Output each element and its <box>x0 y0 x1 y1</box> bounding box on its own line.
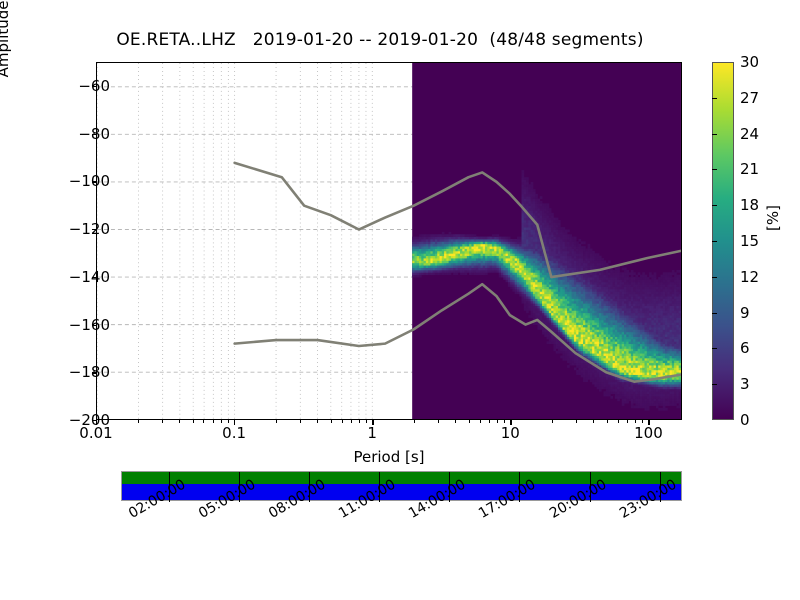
x-minor-tick-mark <box>489 419 490 423</box>
x-tick-label: 0.01 <box>79 424 112 442</box>
colorbar-tick-label: 0 <box>740 411 750 429</box>
x-minor-tick-mark <box>366 419 367 423</box>
noise-model-layer <box>97 63 681 420</box>
y-axis-label-prefix: Amplitude [ <box>0 0 12 77</box>
colorbar-tick-mark <box>712 169 717 170</box>
x-minor-tick-mark <box>179 419 180 423</box>
colorbar-tick-mark <box>712 384 717 385</box>
y-tick-mark <box>92 181 97 182</box>
colorbar-tick-label: 27 <box>740 89 759 107</box>
y-tick-mark <box>92 229 97 230</box>
y-tick-mark <box>92 325 97 326</box>
x-minor-tick-mark <box>438 419 439 423</box>
x-minor-tick-mark <box>618 419 619 423</box>
x-minor-tick-mark <box>300 419 301 423</box>
y-tick-mark <box>92 134 97 135</box>
x-minor-tick-mark <box>627 419 628 423</box>
colorbar-label: [%] <box>764 158 782 278</box>
x-minor-tick-mark <box>213 419 214 423</box>
colorbar-tick-label: 6 <box>740 339 750 357</box>
y-tick-label: −160 <box>69 316 110 334</box>
colorbar-tick-label: 9 <box>740 304 750 322</box>
x-minor-tick-mark <box>414 419 415 423</box>
x-tick-label: 10 <box>501 424 520 442</box>
y-tick-label: −120 <box>69 220 110 238</box>
colorbar-tick-label: 3 <box>740 375 750 393</box>
colorbar-tick-mark <box>712 205 717 206</box>
plot-title: OE.RETA..LHZ 2019-01-20 -- 2019-01-20 (4… <box>0 30 760 50</box>
x-minor-tick-mark <box>203 419 204 423</box>
y-tick-label: −140 <box>69 268 110 286</box>
x-minor-tick-mark <box>469 419 470 423</box>
y-tick-mark <box>92 86 97 87</box>
x-tick-mark <box>648 419 649 425</box>
x-minor-tick-mark <box>342 419 343 423</box>
x-tick-label: 1 <box>367 424 377 442</box>
x-minor-tick-mark <box>276 419 277 423</box>
ppsd-axes <box>96 62 682 420</box>
x-minor-tick-mark <box>331 419 332 423</box>
x-minor-tick-mark <box>497 419 498 423</box>
x-minor-tick-mark <box>138 419 139 423</box>
x-tick-mark <box>372 419 373 425</box>
x-tick-mark <box>96 419 97 425</box>
colorbar-tick-label: 15 <box>740 232 759 250</box>
colorbar-tick-mark <box>712 313 717 314</box>
colorbar-tick-mark <box>712 98 717 99</box>
y-axis-label: Amplitude [m²/s⁴/Hz] [dB] <box>0 0 12 130</box>
x-tick-label: 100 <box>634 424 663 442</box>
y-tick-label: −100 <box>69 172 110 190</box>
x-minor-tick-mark <box>193 419 194 423</box>
x-minor-tick-mark <box>504 419 505 423</box>
x-minor-tick-mark <box>635 419 636 423</box>
x-minor-tick-mark <box>351 419 352 423</box>
colorbar-tick-mark <box>712 277 717 278</box>
ppsd-figure: OE.RETA..LHZ 2019-01-20 -- 2019-01-20 (4… <box>0 0 800 600</box>
colorbar-tick-label: 24 <box>740 125 759 143</box>
x-minor-tick-mark <box>480 419 481 423</box>
x-minor-tick-mark <box>642 419 643 423</box>
x-minor-tick-mark <box>455 419 456 423</box>
colorbar-tick-mark <box>712 348 717 349</box>
x-minor-tick-mark <box>607 419 608 423</box>
y-tick-mark <box>92 372 97 373</box>
x-axis-label: Period [s] <box>96 448 682 466</box>
x-minor-tick-mark <box>162 419 163 423</box>
x-minor-tick-mark <box>228 419 229 423</box>
colorbar-tick-label: 18 <box>740 196 759 214</box>
x-minor-tick-mark <box>593 419 594 423</box>
colorbar-tick-label: 12 <box>740 268 759 286</box>
colorbar-tick-mark <box>712 241 717 242</box>
x-minor-tick-mark <box>552 419 553 423</box>
x-tick-label: 0.1 <box>222 424 246 442</box>
x-minor-tick-mark <box>359 419 360 423</box>
colorbar-tick-mark <box>712 134 717 135</box>
x-minor-tick-mark <box>576 419 577 423</box>
x-minor-tick-mark <box>317 419 318 423</box>
y-tick-mark <box>92 277 97 278</box>
colorbar-tick-label: 30 <box>740 53 759 71</box>
x-tick-mark <box>234 419 235 425</box>
y-tick-label: −180 <box>69 363 110 381</box>
x-minor-tick-mark <box>221 419 222 423</box>
x-tick-mark <box>510 419 511 425</box>
colorbar-tick-label: 21 <box>740 160 759 178</box>
